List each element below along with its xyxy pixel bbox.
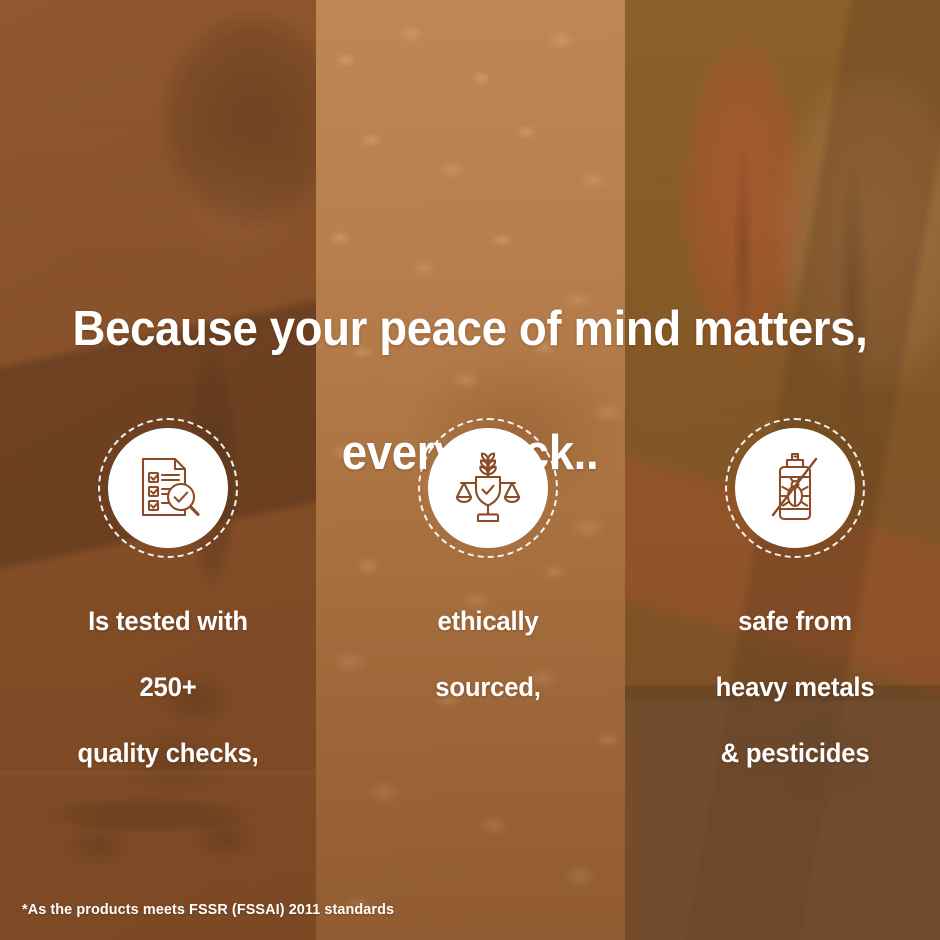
feature-caption: ethically sourced,: [365, 572, 612, 704]
caption-line: heavy metals: [716, 672, 875, 702]
caption-line: 250+: [139, 672, 196, 702]
caption-line: safe from: [738, 606, 852, 636]
checklist-magnifier-icon: [131, 451, 205, 525]
caption-line: sourced,: [435, 672, 540, 702]
content-layer: Because your peace of mind matters, ever…: [0, 0, 940, 940]
feature-row: Is tested with 250+ quality checks,: [0, 418, 940, 718]
feature-no-pesticides: safe from heavy metals & pesticides: [665, 418, 925, 770]
feature-badge: [98, 418, 238, 558]
infographic-canvas: Because your peace of mind matters, ever…: [0, 0, 940, 940]
footnote-disclaimer: *As the products meets FSSR (FSSAI) 2011…: [22, 901, 394, 918]
feature-badge: [418, 418, 558, 558]
badge-disc: [428, 428, 548, 548]
caption-line: quality checks,: [77, 738, 258, 768]
caption-line: Is tested with: [88, 606, 248, 636]
feature-quality-checks: Is tested with 250+ quality checks,: [38, 418, 298, 770]
feature-caption: safe from heavy metals & pesticides: [672, 572, 919, 770]
caption-line: & pesticides: [721, 738, 870, 768]
feature-badge: [725, 418, 865, 558]
badge-disc: [735, 428, 855, 548]
scales-shield-wheat-icon: [451, 451, 525, 525]
caption-line: ethically: [438, 606, 539, 636]
headline-line-1: Because your peace of mind matters,: [73, 302, 868, 356]
feature-ethically-sourced: ethically sourced,: [358, 418, 618, 704]
badge-disc: [108, 428, 228, 548]
no-pesticide-spray-icon: [758, 451, 832, 525]
feature-caption: Is tested with 250+ quality checks,: [45, 572, 292, 770]
